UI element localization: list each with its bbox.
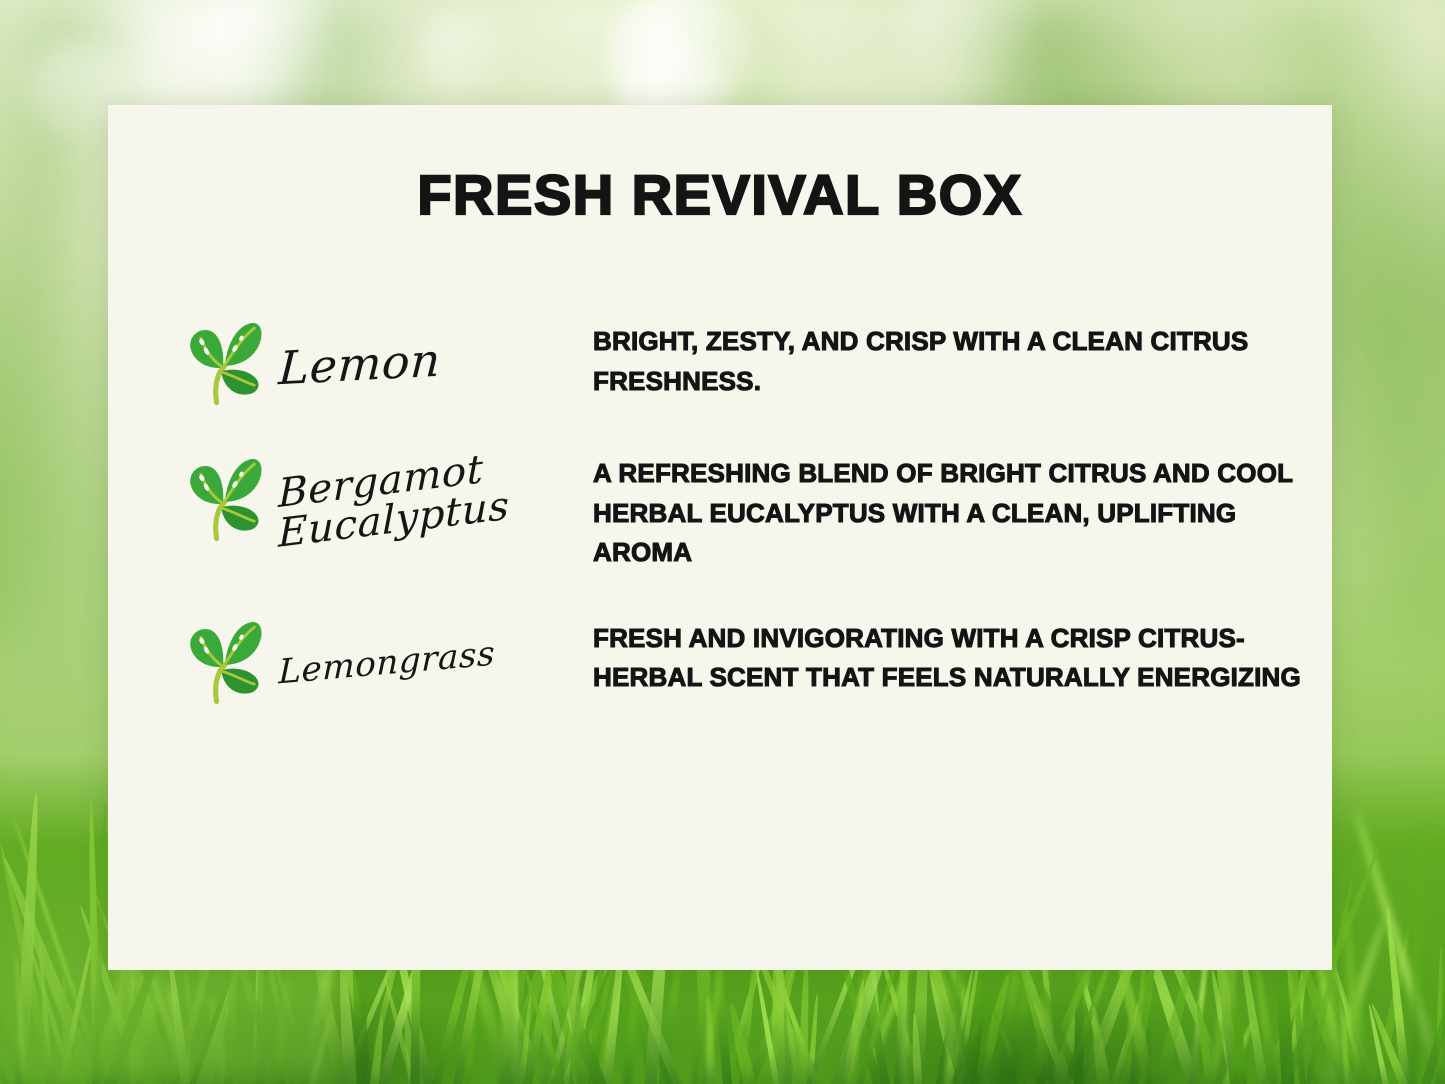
- scent-description: FRESH AND INVIGORATING WITH A CRISP CITR…: [593, 619, 1332, 698]
- scent-name: Bergamot Eucalyptus: [278, 446, 509, 553]
- grass-blade: [910, 1013, 924, 1084]
- grass-blade: [1087, 1005, 1114, 1084]
- grass-blade: [926, 973, 969, 1084]
- grass-blade: [725, 1002, 762, 1084]
- grass-blade: [568, 958, 619, 1084]
- leaf-sprig-icon: [173, 454, 273, 546]
- grass-blade: [560, 1019, 603, 1084]
- scent-list: Lemon BRIGHT, ZESTY, AND CRISP WITH A CL…: [108, 318, 1332, 709]
- scent-name: Lemongrass: [278, 636, 495, 689]
- grass-blade: [1207, 969, 1243, 1084]
- grass-blade: [753, 966, 784, 1084]
- scent-name-cell: Lemongrass: [273, 617, 593, 709]
- leaf-sprig-icon: [173, 318, 273, 410]
- scent-name-line: Lemon: [277, 337, 441, 391]
- content-card: FRESH REVIVAL BOX: [108, 105, 1332, 970]
- leaf-sprig-icon: [173, 617, 273, 709]
- scent-name-line: Lemongrass: [278, 636, 495, 689]
- grass-blade: [401, 1004, 421, 1084]
- grass-blade: [460, 997, 480, 1084]
- scent-description-cell: A REFRESHING BLEND OF BRIGHT CITRUS AND …: [593, 454, 1332, 573]
- grass-blade: [560, 956, 582, 1084]
- grass-blade: [1231, 1004, 1248, 1084]
- grass-blade: [805, 993, 820, 1084]
- grass-blade: [1118, 998, 1137, 1084]
- grass-blade: [1147, 962, 1196, 1084]
- grass-blade: [1369, 927, 1413, 1084]
- grass-blade: [619, 970, 685, 1084]
- grass-blade: [942, 1013, 957, 1084]
- grass-blade: [546, 967, 592, 1084]
- grass-blade: [751, 1002, 795, 1084]
- grass-blade: [1121, 953, 1161, 1084]
- grass-blade: [595, 966, 621, 1084]
- grass-blade: [1218, 974, 1247, 1084]
- scent-name: Lemon: [277, 337, 441, 391]
- grass-blade: [838, 978, 868, 1084]
- grass-blade: [1029, 999, 1083, 1084]
- grass-blade: [367, 1014, 386, 1084]
- grass-blade: [961, 968, 1003, 1084]
- grass-blade: [1337, 904, 1372, 1084]
- grass-blade: [965, 971, 1015, 1084]
- grass-blade: [382, 976, 423, 1084]
- grass-blade: [1048, 971, 1110, 1084]
- grass-blade: [1199, 1004, 1233, 1084]
- grass-blade: [1033, 959, 1053, 1084]
- grass-blade: [1329, 991, 1375, 1084]
- scent-name-cell: Lemon: [273, 318, 593, 410]
- grass-blade: [516, 993, 534, 1084]
- grass-blade: [705, 982, 760, 1084]
- page-title: FRESH REVIVAL BOX: [108, 167, 1332, 223]
- grass-blade: [1338, 997, 1353, 1084]
- list-item: Lemon BRIGHT, ZESTY, AND CRISP WITH A CL…: [173, 318, 1332, 410]
- grass-blade: [1407, 819, 1427, 1084]
- list-item: Lemongrass FRESH AND INVIGORATING WITH A…: [173, 617, 1332, 709]
- scent-name-cell: Bergamot Eucalyptus: [273, 454, 593, 546]
- scent-description-cell: FRESH AND INVIGORATING WITH A CRISP CITR…: [593, 617, 1332, 698]
- grass-blade: [986, 996, 1038, 1084]
- grass-blade: [1212, 1020, 1256, 1084]
- scent-description: BRIGHT, ZESTY, AND CRISP WITH A CLEAN CI…: [593, 322, 1332, 401]
- grass-blade: [901, 976, 908, 1084]
- grass-blade: [1192, 999, 1218, 1084]
- grass-blade: [1416, 954, 1445, 1084]
- grass-blade: [1338, 990, 1371, 1084]
- grass-blade: [703, 996, 717, 1084]
- grass-blade: [1367, 1004, 1395, 1084]
- grass-blade: [1027, 959, 1093, 1084]
- grass-blade: [942, 966, 976, 1084]
- scent-description: A REFRESHING BLEND OF BRIGHT CITRUS AND …: [593, 454, 1332, 573]
- list-item: Bergamot Eucalyptus A REFRESHING BLEND O…: [173, 454, 1332, 573]
- grass-blade: [517, 952, 573, 1084]
- grass-blade: [1435, 945, 1444, 1084]
- grass-blade: [847, 973, 865, 1084]
- scent-description-cell: BRIGHT, ZESTY, AND CRISP WITH A CLEAN CI…: [593, 318, 1332, 401]
- grass-blade: [1368, 1002, 1418, 1084]
- grass-blade: [1044, 961, 1097, 1084]
- grass-blade: [1383, 906, 1413, 1084]
- grass-blade: [797, 956, 811, 1084]
- grass-blade: [1351, 809, 1445, 1084]
- grass-blade: [846, 956, 916, 1084]
- grass-blade: [1414, 853, 1445, 1084]
- grass-blade: [1102, 955, 1158, 1084]
